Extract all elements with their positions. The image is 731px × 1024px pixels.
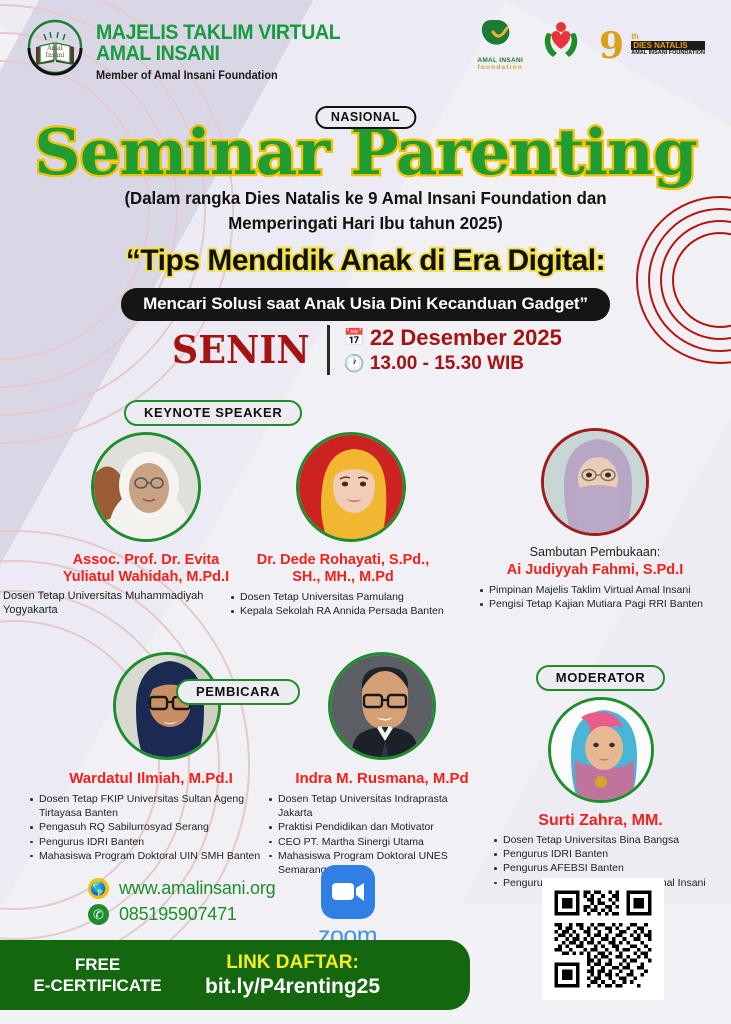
- keynote-speaker-label-wrap: KEYNOTE SPEAKER: [124, 400, 302, 426]
- keynote-1-affiliations: Dosen Tetap Universitas Muhammadiyah Yog…: [3, 589, 228, 617]
- opening-card: Sambutan Pembukaan: Ai Judiyyah Fahmi, S…: [470, 428, 720, 611]
- keynote-1-name-line2: Yuliatul Wahidah, M.Pd.I: [41, 569, 251, 586]
- registration-footer: FREE E-CERTIFICATE LINK DAFTAR: bit.ly/P…: [0, 940, 470, 1010]
- contact-block: 🌎 www.amalinsani.org ✆ 085195907471: [88, 878, 275, 930]
- photo-ai-judiyyah-fahmi: [541, 428, 649, 536]
- keynote-2-name-line1: Dr. Dede Rohayati, S.Pd.,: [243, 552, 443, 569]
- registration-qr-code[interactable]: [542, 878, 664, 1000]
- clock-icon: 🕐: [344, 354, 363, 374]
- moderator-label-wrap: MODERATOR: [478, 665, 723, 691]
- speaker-2-name: Indra M. Rusmana, M.Pd: [287, 770, 477, 787]
- website-row[interactable]: 🌎 www.amalinsani.org: [88, 878, 275, 899]
- dies-natalis-caption: DIES NATALIS: [631, 41, 705, 50]
- moderator-card: MODERATOR Surti Zahra, MM. Dosen Tetap U…: [478, 665, 723, 890]
- page-title: Seminar Parenting: [0, 120, 731, 184]
- speaker-card-2: Indra M. Rusmana, M.Pd Dosen Tetap Unive…: [287, 652, 477, 877]
- photo-wardatul-ilmiah: [113, 652, 221, 760]
- foundation-caption: foundation: [477, 64, 523, 71]
- free-certificate-block: FREE E-CERTIFICATE: [0, 954, 205, 996]
- speaker-1-bullet-2: Pengasuh RQ Sabilurrosyad Serang: [28, 820, 278, 834]
- dies-ordinal: th: [631, 32, 705, 41]
- org-name-line2: AMAL INSANI: [96, 43, 340, 64]
- schedule-date: 22 Desember 2025: [370, 325, 562, 351]
- globe-icon: 🌎: [88, 878, 109, 899]
- schedule-block: SENIN 📅 22 Desember 2025 🕐 13.00 - 15.30…: [0, 325, 731, 375]
- platform-block: zoom: [318, 865, 377, 951]
- dies-number: 9: [599, 25, 624, 63]
- speaker-2-bullet-3: CEO PT. Martha Sinergi Utama: [267, 835, 467, 849]
- opening-bullets: Pimpinan Majelis Taklim Virtual Amal Ins…: [478, 583, 720, 611]
- keynote-card-2: Dr. Dede Rohayati, S.Pd., SH., MH., M.Pd…: [243, 432, 459, 618]
- poster-header: Amal Insani MAJELIS TAKLIM VIRTUAL AMAL …: [0, 0, 731, 100]
- speaker-1-bullets: Dosen Tetap FKIP Universitas Sultan Agen…: [28, 792, 278, 863]
- keynote-2-bullet-2: Kepala Sekolah RA Annida Persada Banten: [229, 604, 459, 618]
- moderator-bullet-3: Pengurus AFEBSI Banten: [492, 861, 723, 875]
- photo-evita-yuliatul-wahidah: [91, 432, 201, 542]
- opening-bullet-1: Pimpinan Majelis Taklim Virtual Amal Ins…: [478, 583, 720, 597]
- brand-block: Amal Insani MAJELIS TAKLIM VIRTUAL AMAL …: [24, 18, 359, 82]
- schedule-time: 13.00 - 15.30 WIB: [370, 353, 524, 375]
- opening-bullet-2: Pengisi Tetap Kajian Mutiara Pagi RRI Ba…: [478, 597, 720, 611]
- keynote-1-affiliation-1: Dosen Tetap Universitas Muhammadiyah: [3, 589, 228, 603]
- keynote-2-bullet-1: Dosen Tetap Universitas Pamulang: [229, 590, 459, 604]
- org-name-line1: MAJELIS TAKLIM VIRTUAL: [96, 22, 340, 43]
- majelis-taklim-book-logo: Amal Insani: [24, 18, 86, 80]
- calendar-icon: 📅: [344, 328, 363, 348]
- nasional-badge: NASIONAL: [315, 106, 416, 129]
- zoom-camera-icon: [321, 865, 375, 919]
- phone-row[interactable]: ✆ 085195907471: [88, 904, 275, 925]
- moderator-bullet-1: Dosen Tetap Universitas Bina Bangsa: [492, 833, 723, 847]
- speaker-1-bullet-4: Mahasiswa Program Doktoral UIN SMH Bante…: [28, 849, 278, 863]
- brand-text: MAJELIS TAKLIM VIRTUAL AMAL INSANI Membe…: [96, 18, 359, 82]
- moderator-name: Surti Zahra, MM.: [478, 812, 723, 829]
- photo-indra-m-rusmana: [328, 652, 436, 760]
- schedule-date-row: 📅 22 Desember 2025: [344, 325, 562, 351]
- photo-dede-rohayati: [296, 432, 406, 542]
- svg-text:Amal: Amal: [46, 45, 63, 52]
- amal-insani-foundation-logo: AMAL INSANI foundation: [477, 16, 523, 71]
- amal-insani-caption: AMAL INSANI: [477, 57, 523, 64]
- schedule-time-row: 🕐 13.00 - 15.30 WIB: [344, 353, 562, 375]
- org-member-line: Member of Amal Insani Foundation: [96, 70, 346, 82]
- keynote-card-1: Assoc. Prof. Dr. Evita Yuliatul Wahidah,…: [41, 432, 251, 617]
- link-daftar-label: LINK DAFTAR:: [205, 951, 380, 974]
- whatsapp-icon: ✆: [88, 904, 109, 925]
- speaker-2-bullet-1: Dosen Tetap Universitas Indraprasta Jaka…: [267, 792, 467, 820]
- keynote-1-name-line1: Assoc. Prof. Dr. Evita: [41, 552, 251, 569]
- keynote-2-name-line2: SH., MH., M.Pd: [243, 569, 443, 586]
- title-subtitle-line1: (Dalam rangka Dies Natalis ke 9 Amal Ins…: [15, 188, 717, 209]
- dies-foundation-caption: AMAL INSANI FOUNDATION: [631, 50, 705, 56]
- title-block: NASIONAL Seminar Parenting (Dalam rangka…: [0, 112, 731, 234]
- keynote-speaker-label: KEYNOTE SPEAKER: [124, 400, 302, 426]
- schedule-details: 📅 22 Desember 2025 🕐 13.00 - 15.30 WIB: [344, 325, 562, 375]
- phone-text[interactable]: 085195907471: [119, 904, 237, 925]
- moderator-bullet-2: Pengurus IDRI Banten: [492, 847, 723, 861]
- schedule-divider: [327, 325, 330, 375]
- photo-surti-zahra: [548, 697, 654, 803]
- dies-natalis-9th-logo: 9 th DIES NATALIS AMAL INSANI FOUNDATION: [599, 25, 705, 63]
- svg-text:Insani: Insani: [46, 52, 65, 59]
- speaker-1-bullet-1: Dosen Tetap FKIP Universitas Sultan Agen…: [28, 792, 278, 820]
- website-text[interactable]: www.amalinsani.org: [119, 878, 275, 899]
- hands-heart-logo: [539, 19, 583, 68]
- speaker-1-name: Wardatul Ilmiah, M.Pd.I: [56, 770, 246, 787]
- moderator-label: MODERATOR: [536, 665, 665, 691]
- pembicara-label-wrap: PEMBICARA: [176, 679, 300, 705]
- theme-line-1: “Tips Mendidik Anak di Era Digital:: [0, 244, 731, 278]
- theme-line-2: Mencari Solusi saat Anak Usia Dini Kecan…: [121, 288, 610, 321]
- poster-canvas: Amal Insani MAJELIS TAKLIM VIRTUAL AMAL …: [0, 0, 731, 1024]
- opening-intro: Sambutan Pembukaan:: [470, 545, 720, 559]
- pembicara-label: PEMBICARA: [176, 679, 300, 705]
- theme-block: “Tips Mendidik Anak di Era Digital: Menc…: [0, 244, 731, 321]
- registration-link-block[interactable]: LINK DAFTAR: bit.ly/P4renting25: [205, 951, 380, 999]
- speaker-2-bullet-2: Praktisi Pendidikan dan Motivator: [267, 820, 467, 834]
- title-subtitle-line2: Memperingati Hari Ibu tahun 2025): [15, 213, 717, 234]
- opening-name: Ai Judiyyah Fahmi, S.Pd.I: [470, 562, 720, 579]
- keynote-1-affiliation-2: Yogyakarta: [3, 603, 228, 617]
- free-line-2: E-CERTIFICATE: [0, 975, 205, 996]
- registration-url[interactable]: bit.ly/P4renting25: [205, 974, 380, 999]
- free-line-1: FREE: [0, 954, 205, 975]
- speaker-1-bullet-3: Pengurus IDRI Banten: [28, 835, 278, 849]
- partner-logos: AMAL INSANI foundation 9 th DIES NATALIS: [477, 16, 705, 71]
- keynote-2-bullets: Dosen Tetap Universitas Pamulang Kepala …: [229, 590, 459, 618]
- schedule-day: SENIN: [172, 330, 310, 370]
